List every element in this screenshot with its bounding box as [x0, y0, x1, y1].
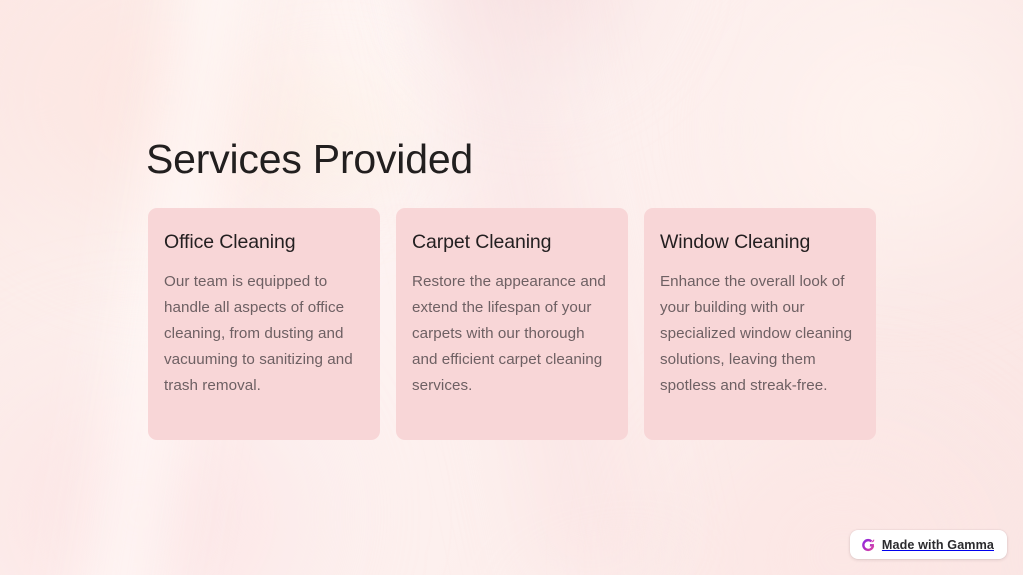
service-card-description: Our team is equipped to handle all aspec… — [164, 269, 360, 399]
made-with-gamma-badge[interactable]: Made with Gamma — [850, 530, 1007, 559]
service-card-title: Office Cleaning — [164, 229, 360, 255]
page-title: Services Provided — [146, 134, 473, 184]
service-card-description: Enhance the overall look of your buildin… — [660, 269, 856, 399]
service-card-description: Restore the appearance and extend the li… — [412, 269, 608, 399]
service-card-title: Window Cleaning — [660, 229, 856, 255]
gamma-logo-icon — [861, 538, 875, 552]
service-card-window-cleaning[interactable]: Window Cleaning Enhance the overall look… — [644, 208, 876, 440]
slide-content: Services Provided Office Cleaning Our te… — [0, 0, 1023, 575]
services-card-grid: Office Cleaning Our team is equipped to … — [148, 208, 876, 440]
made-with-gamma-label: Made with Gamma — [882, 538, 994, 552]
slide-canvas: Services Provided Office Cleaning Our te… — [0, 0, 1023, 575]
service-card-office-cleaning[interactable]: Office Cleaning Our team is equipped to … — [148, 208, 380, 440]
service-card-carpet-cleaning[interactable]: Carpet Cleaning Restore the appearance a… — [396, 208, 628, 440]
service-card-title: Carpet Cleaning — [412, 229, 608, 255]
